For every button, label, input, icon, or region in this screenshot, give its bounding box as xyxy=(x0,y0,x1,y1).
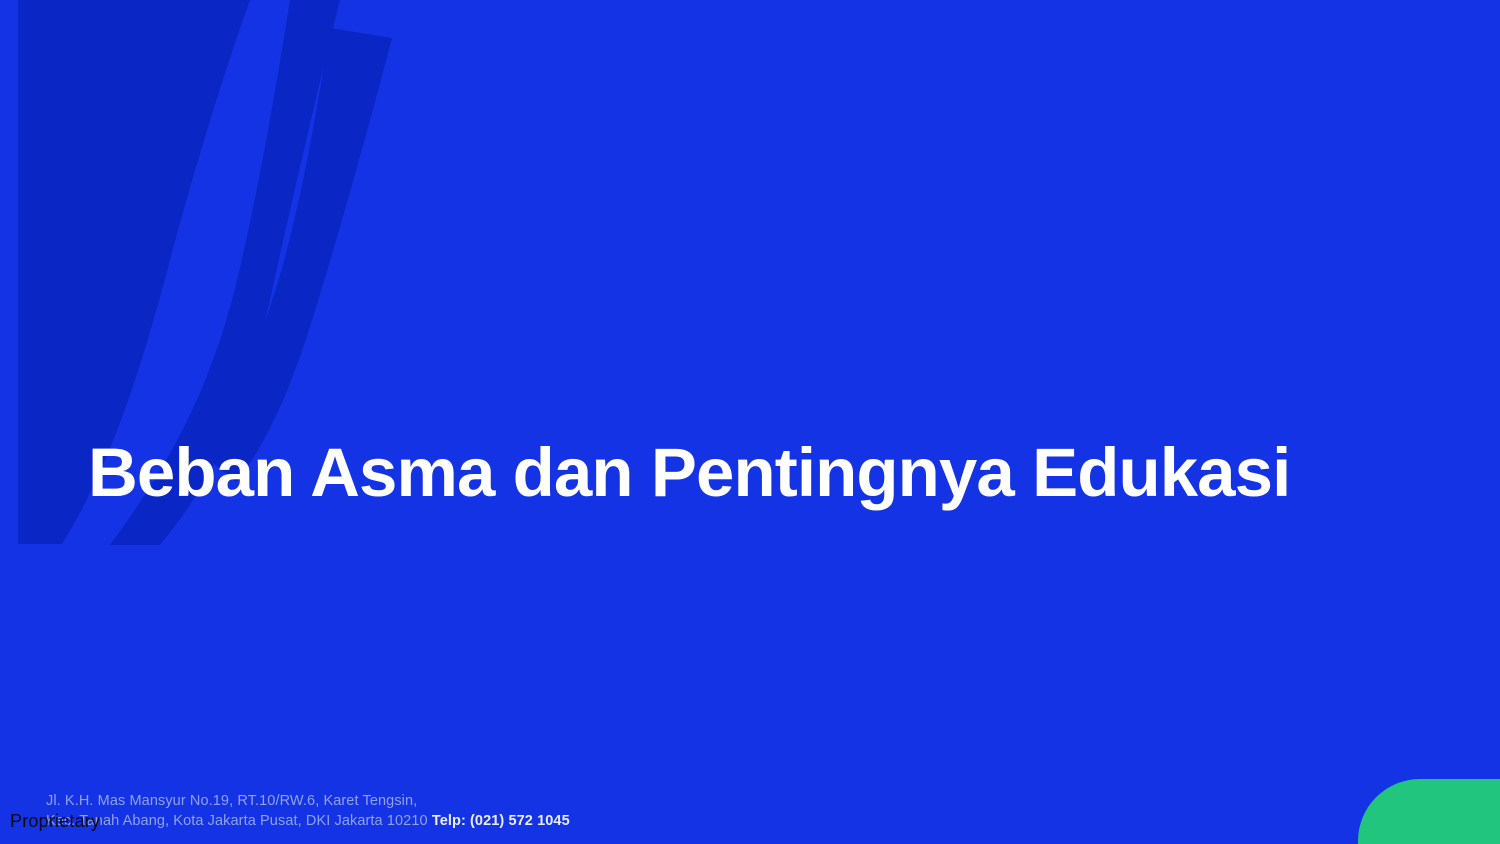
swoosh-ribbon-inner xyxy=(200,28,392,482)
presentation-slide: Beban Asma dan Pentingnya Edukasi Jl. K.… xyxy=(0,0,1500,844)
decorative-swoosh-graphic xyxy=(0,0,1500,844)
address-line-2-row: Kec. Tanah Abang, Kota Jakarta Pusat, DK… xyxy=(46,811,946,831)
address-line-1: Jl. K.H. Mas Mansyur No.19, RT.10/RW.6, … xyxy=(46,791,946,811)
proprietary-watermark: Proprietary xyxy=(10,811,100,832)
page-title: Beban Asma dan Pentingnya Edukasi xyxy=(88,436,1448,510)
footer-address: Jl. K.H. Mas Mansyur No.19, RT.10/RW.6, … xyxy=(46,791,946,831)
address-line-2: Kec. Tanah Abang, Kota Jakarta Pusat, DK… xyxy=(46,813,428,829)
phone-number: Telp: (021) 572 1045 xyxy=(432,813,570,829)
green-corner-accent xyxy=(1358,779,1500,844)
